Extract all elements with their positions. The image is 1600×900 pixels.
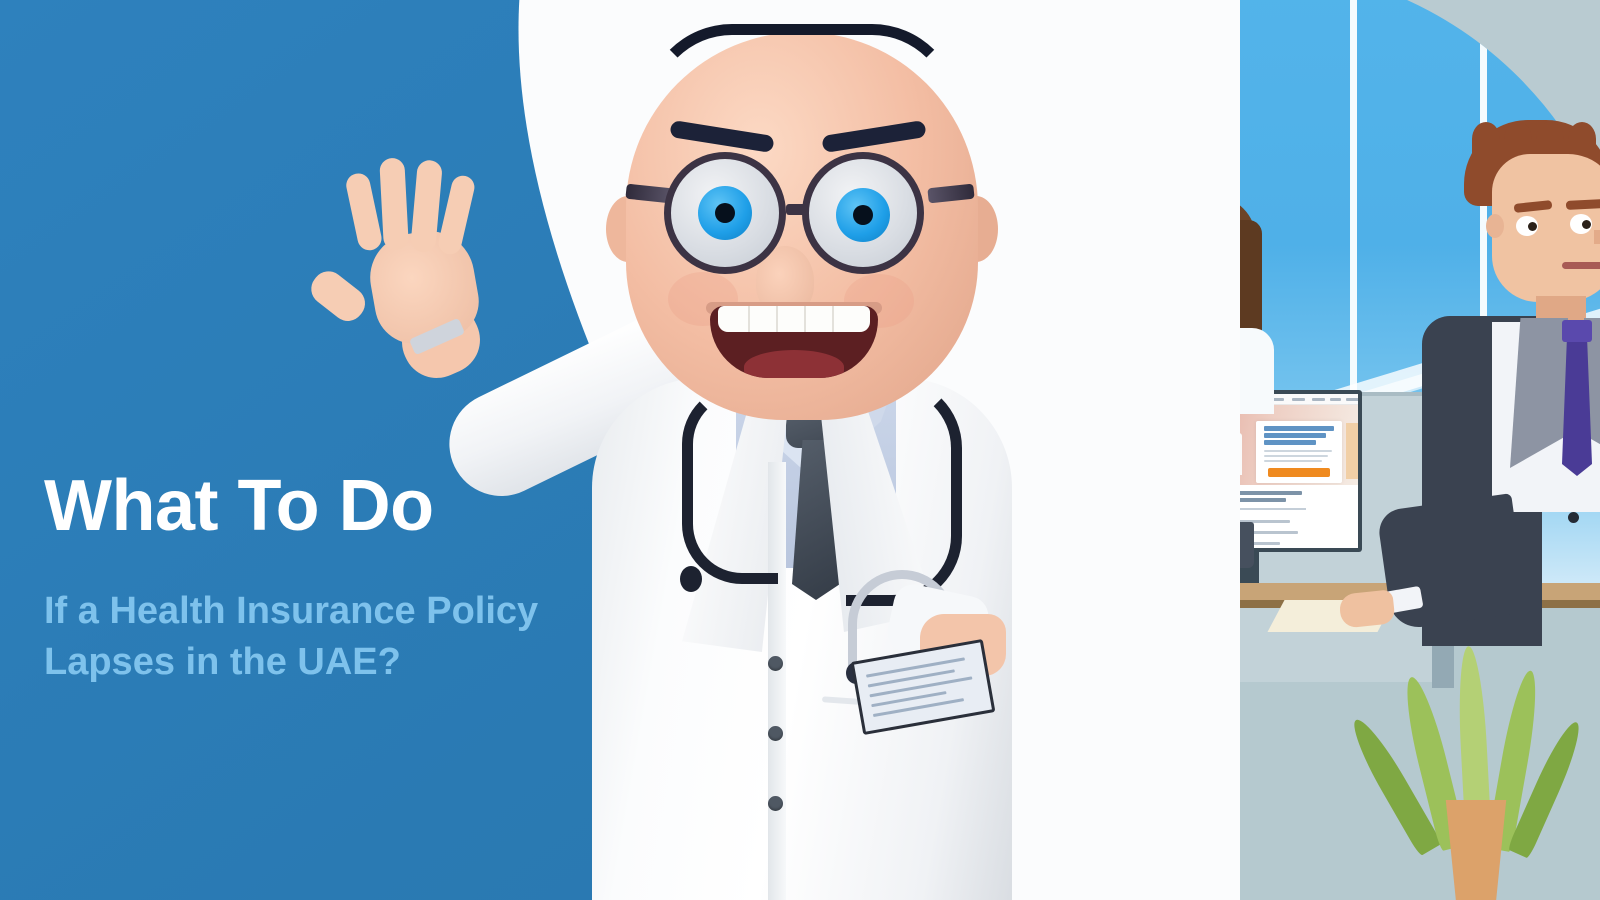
hair-spike [1504, 122, 1532, 156]
nose [1198, 266, 1203, 276]
tie-knot [1562, 320, 1592, 342]
desk-leg [1090, 608, 1101, 898]
website-hero [1116, 405, 1358, 485]
hairline [644, 24, 960, 112]
bullet-icon [1168, 518, 1174, 524]
hero-doctor-tie [1230, 437, 1234, 449]
hair-spike [1536, 122, 1564, 156]
finger [379, 157, 409, 250]
banner-headline: What To Do [44, 470, 584, 542]
coat-button [768, 796, 783, 811]
pupil-left [1179, 257, 1184, 262]
teeth [1192, 282, 1214, 287]
pupil-right [1582, 220, 1591, 229]
hair-spike [1472, 122, 1500, 156]
hero-counter [1126, 449, 1212, 471]
teeth [1086, 351, 1112, 356]
card-text-line [866, 657, 965, 677]
banner-canvas: What To Do If a Health Insurance Policy … [0, 0, 1600, 900]
nav-item [1312, 398, 1325, 401]
tongue [744, 350, 844, 378]
nav-item [1330, 398, 1341, 401]
mouth [1084, 351, 1114, 363]
hero-cta-button[interactable] [1268, 468, 1330, 477]
mouth [1562, 262, 1600, 269]
hair-side-right [1232, 220, 1262, 344]
coat-button [768, 726, 783, 741]
pupil-left [1528, 222, 1537, 231]
ear [1486, 214, 1504, 238]
cartoon-doctor-waving [560, 10, 1080, 900]
hero-card-text [1264, 460, 1322, 462]
hero-side-panel [1346, 423, 1358, 479]
eyebrow-right [1566, 199, 1600, 210]
coffee-mug [1212, 522, 1254, 568]
hero-card-heading [1264, 433, 1326, 438]
stethoscope-tip [680, 566, 702, 592]
teeth [718, 306, 870, 332]
nav-item [1292, 398, 1305, 401]
pupil-left [715, 203, 735, 223]
hero-shelf [1132, 419, 1192, 439]
card-text-line [869, 676, 972, 697]
hand [1338, 589, 1395, 628]
bullet-icon [1168, 540, 1174, 546]
hero-doctor-head [1226, 423, 1238, 435]
mouth [1190, 282, 1216, 294]
banner-subheadline: If a Health Insurance Policy Lapses in t… [44, 586, 584, 689]
body-heading [1174, 491, 1302, 495]
hero-card-heading [1264, 440, 1316, 445]
nav-item [1346, 398, 1358, 401]
glasses-bridge [786, 204, 808, 215]
banner-text-block: What To Do If a Health Insurance Policy … [44, 470, 584, 689]
hair-spike [1568, 122, 1596, 156]
hero-card-text [1264, 455, 1328, 457]
hero-card-heading [1264, 426, 1334, 431]
hero-card [1256, 421, 1342, 483]
pupil-right [1219, 257, 1224, 262]
suit-button [1568, 512, 1579, 523]
pupil-right [853, 205, 873, 225]
coat-button [768, 656, 783, 671]
pupil [1094, 321, 1102, 329]
hero-card-text [1264, 450, 1332, 452]
bullet-icon [1168, 529, 1174, 535]
nose [1594, 230, 1600, 244]
mouth [710, 306, 878, 378]
body-heading [1190, 498, 1286, 502]
